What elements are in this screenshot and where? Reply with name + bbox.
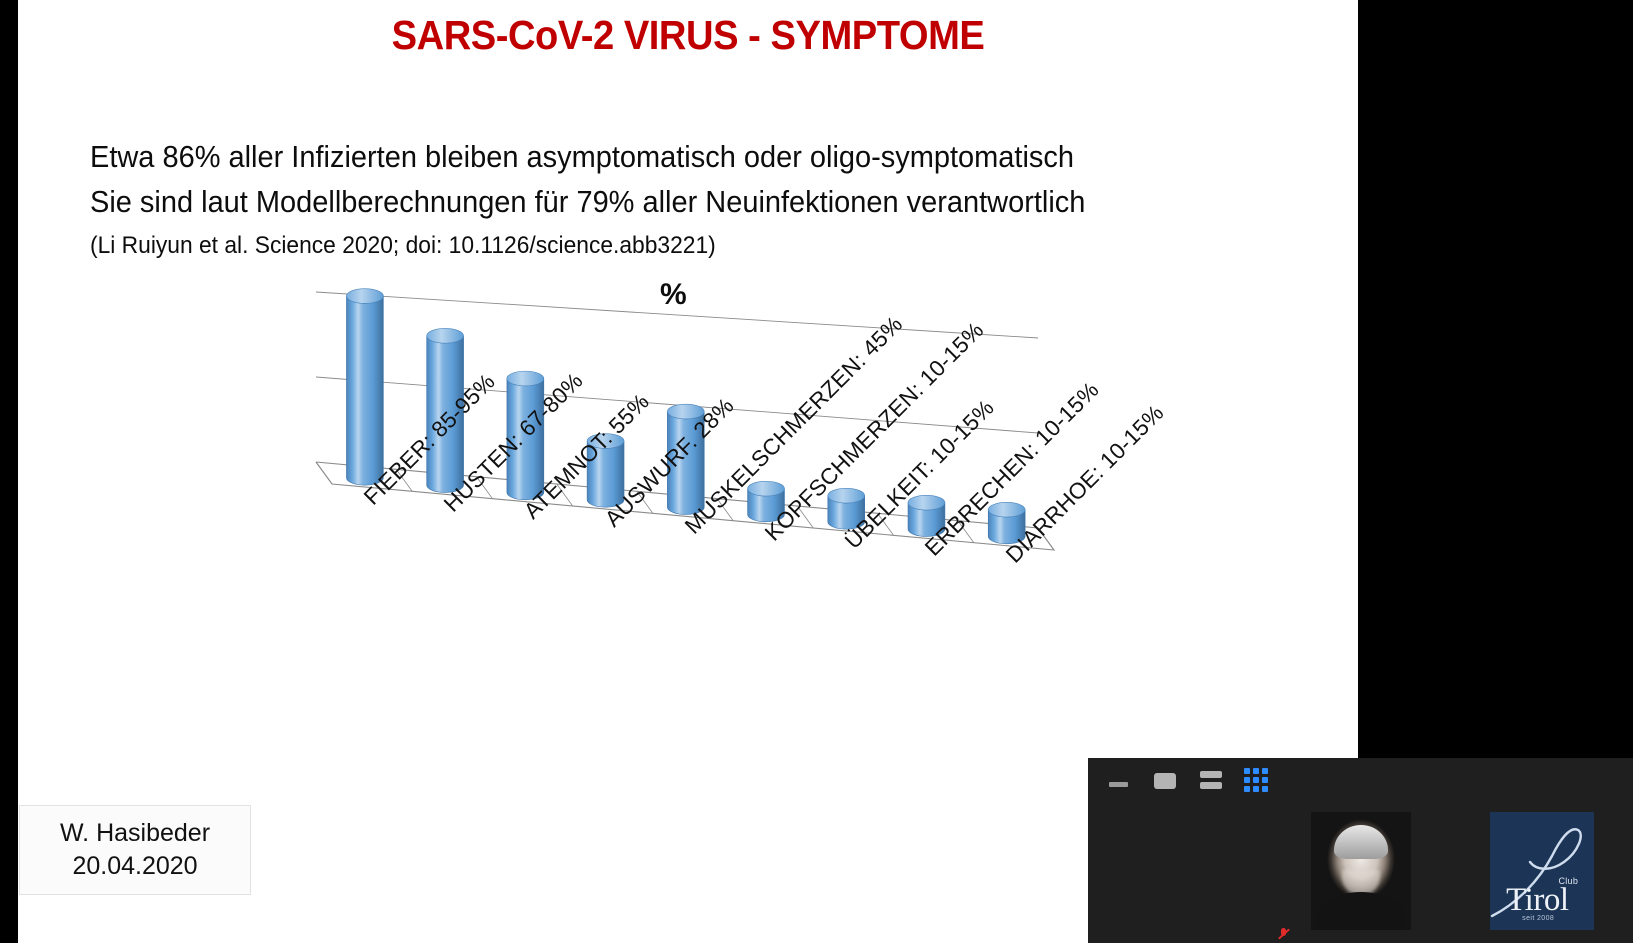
gallery-view-icon[interactable] [1244,768,1268,792]
credit-author: W. Hasibeder [60,819,210,848]
minimize-icon[interactable] [1106,769,1132,791]
chart-title: % [660,278,687,312]
chart-bar [346,289,383,485]
participant-tile-empty-left[interactable] [1088,802,1270,943]
participant-tile-video[interactable] [1270,802,1452,943]
citation-text: (Li Ruiyun et al. Science 2020; doi: 10.… [90,232,716,260]
logo-since-text: seit 2008 [1522,915,1554,922]
symptom-bar-chart: % [298,280,1098,580]
video-conference-panel: Club Tirol seit 2008 [1088,758,1633,943]
page-title: SARS-CoV-2 VIRUS - SYMPTOME [65,12,1311,59]
mic-muted-icon [1278,928,1289,940]
avatar [1311,812,1411,930]
body-text-line-2: Sie sind laut Modellberechnungen für 79%… [90,185,1085,220]
video-view-toolbar [1088,758,1633,802]
body-text-line-1: Etwa 86% aller Infizierten bleiben asymp… [90,140,1074,175]
logo-tirol-text: Tirol [1506,884,1568,917]
participant-label [1278,927,1294,941]
author-credit-box: W. Hasibeder 20.04.2020 [19,805,251,895]
split-view-icon[interactable] [1198,769,1224,791]
screen-share-view: SARS-CoV-2 VIRUS - SYMPTOME Etwa 86% all… [0,0,1633,943]
participant-tiles: Club Tirol seit 2008 [1088,802,1633,943]
credit-date: 20.04.2020 [72,852,197,881]
participant-tile-logo[interactable]: Club Tirol seit 2008 [1451,802,1633,943]
club-tirol-logo: Club Tirol seit 2008 [1490,812,1594,930]
speaker-view-icon[interactable] [1152,769,1178,791]
